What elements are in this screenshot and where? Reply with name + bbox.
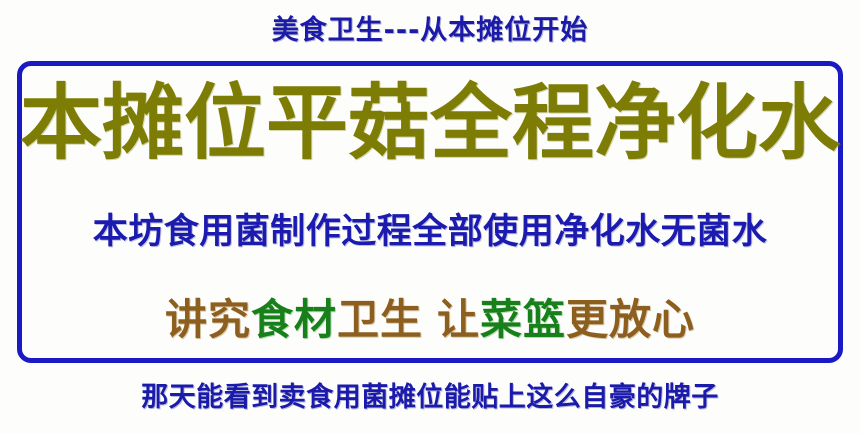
slogan-segment-6: 更放心	[566, 295, 695, 344]
slogan-segment-5: 菜篮	[480, 295, 566, 344]
sign-poster: 美食卫生---从本摊位开始 本摊位平菇全程净化水 本坊食用菌制作过程全部使用净化…	[0, 0, 860, 434]
poster-subheadline: 本坊食用菌制作过程全部使用净化水无菌水	[0, 210, 860, 254]
slogan-segment-4: 让	[437, 295, 480, 344]
header-tagline: 美食卫生---从本摊位开始	[0, 8, 860, 47]
slogan-segment-3: 卫生	[337, 295, 423, 344]
slogan-segment-1: 讲究	[165, 295, 251, 344]
poster-slogan: 讲究食材卫生让菜篮更放心	[0, 294, 860, 346]
slogan-segment-2: 食材	[251, 295, 337, 344]
poster-headline: 本摊位平菇全程净化水	[0, 76, 860, 172]
poster-caption: 那天能看到卖食用菌摊位能贴上这么自豪的牌子	[0, 380, 860, 416]
